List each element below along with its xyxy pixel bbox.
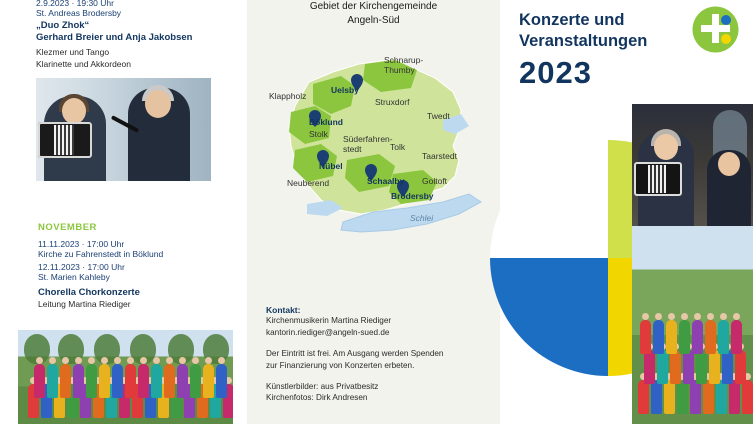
credit-church-photos: Kirchenfotos: Dirk Andresen: [266, 392, 481, 404]
choir-person: [742, 380, 753, 414]
choir-person: [640, 320, 651, 354]
choir-person: [666, 320, 677, 354]
logo-dot-yellow: [721, 34, 731, 44]
head-shape: [707, 313, 714, 320]
head-shape: [75, 357, 82, 364]
choir-person: [677, 380, 688, 414]
choir-person: [177, 364, 188, 398]
event1-instruments: Klarinette und Akkordeon: [36, 59, 248, 71]
choir-person: [703, 380, 714, 414]
map-label-schaalby: Schaalby: [367, 177, 404, 187]
event1-performers: Gerhard Breier und Anja Jakobsen: [36, 32, 248, 44]
head-shape: [720, 313, 727, 320]
choir-person: [670, 350, 681, 384]
choir-person: [729, 380, 740, 414]
choir-person: [722, 350, 733, 384]
choir-person: [683, 350, 694, 384]
choir-person: [696, 350, 707, 384]
choir-person: [735, 350, 746, 384]
event2-date: 11.11.2023 · 17:00 Uhr: [38, 239, 228, 249]
map-label-n-bel: Nübel: [319, 162, 343, 172]
head-shape: [718, 152, 740, 176]
map-label-struxdorf: Struxdorf: [375, 98, 410, 108]
map-label-goltoft: Goltoft: [422, 177, 447, 187]
choir-person: [657, 350, 668, 384]
contact-heading: Kontakt:: [266, 305, 481, 315]
choir-person: [651, 380, 662, 414]
map-label-tolk: Tolk: [390, 143, 405, 153]
choir-person: [638, 380, 649, 414]
map-label-neuberend: Neuberend: [287, 179, 329, 189]
cover-title-line1: Konzerte und: [519, 10, 679, 31]
map-label-s-derfahren-stedt: Süderfahren- stedt: [343, 135, 393, 155]
map-graphic: Schnarup- ThumbyKlappholzUelsbyStruxdorf…: [247, 34, 500, 264]
choir-person: [47, 364, 58, 398]
brochure-page: 2.9.2023 · 19:30 Uhr St. Andreas Broders…: [0, 0, 753, 424]
event1-date: 2.9.2023 · 19:30 Uhr: [36, 0, 248, 8]
head-shape: [166, 357, 173, 364]
choir-person: [644, 350, 655, 384]
event-block-september: 2.9.2023 · 19:30 Uhr St. Andreas Broders…: [18, 0, 266, 70]
head-shape: [681, 313, 688, 320]
head-shape: [205, 357, 212, 364]
month-label-november: NOVEMBER: [38, 222, 228, 233]
head-shape: [62, 98, 86, 124]
event1-venue: St. Andreas Brodersby: [36, 8, 248, 18]
choir-person: [99, 364, 110, 398]
credit-artist-photos: Künstlerbilder: aus Privatbesitz: [266, 381, 481, 393]
accordion-instrument: [38, 122, 92, 158]
map-label-schnarup-thumby: Schnarup- Thumby: [384, 56, 423, 76]
choir-person: [164, 364, 175, 398]
map-label-stolk: Stolk: [309, 130, 328, 140]
cover-title-line2: Veranstaltungen: [519, 31, 679, 52]
choir-person: [216, 364, 227, 398]
choir-person: [86, 364, 97, 398]
head-shape: [114, 357, 121, 364]
contact-person: Kirchenmusikerin Martina Riediger: [266, 315, 481, 327]
event-lead-chorella: Leitung Martina Riediger: [38, 299, 228, 311]
head-shape: [153, 357, 160, 364]
event1-program: Klezmer und Tango: [36, 47, 248, 59]
event3-venue: St. Marien Kahleby: [38, 272, 228, 282]
head-shape: [145, 90, 171, 118]
choir-person: [653, 320, 664, 354]
choir-person: [125, 364, 136, 398]
cover-title: Konzerte und Veranstaltungen: [519, 10, 679, 51]
map-label-brodersby: Brodersby: [391, 192, 434, 202]
map-heading-line1: Gebiet der Kirchengemeinde: [247, 0, 500, 14]
choir-person: [690, 380, 701, 414]
choir-person: [664, 380, 675, 414]
head-shape: [642, 313, 649, 320]
head-shape: [655, 313, 662, 320]
musician-figure: [707, 150, 751, 226]
choir-photo-outdoor: [632, 226, 753, 424]
choir-person: [709, 350, 720, 384]
map-label-schlei: Schlei: [410, 214, 433, 224]
head-shape: [140, 357, 147, 364]
head-shape: [654, 134, 678, 160]
head-shape: [49, 357, 56, 364]
map-label-uelsby: Uelsby: [331, 86, 359, 96]
head-shape: [192, 357, 199, 364]
map-label-b-klund: Böklund: [309, 118, 343, 128]
head-shape: [179, 357, 186, 364]
choir-person: [718, 320, 729, 354]
choir-person: [190, 364, 201, 398]
accordion-instrument: [634, 162, 682, 196]
church-cross-logo: [692, 6, 739, 53]
head-shape: [101, 357, 108, 364]
right-column: Konzerte und Veranstaltungen 2023: [500, 0, 753, 424]
event-block-november: NOVEMBER 11.11.2023 · 17:00 Uhr Kirche z…: [38, 222, 228, 311]
donation-note-line1: Der Eintritt ist frei. Am Ausgang werden…: [266, 348, 481, 360]
clarinet-player-figure: [128, 88, 190, 181]
map-label-klappholz: Klappholz: [269, 92, 306, 102]
logo-svg: [692, 6, 739, 53]
head-shape: [62, 357, 69, 364]
choir-person: [138, 364, 149, 398]
concert-photo-musicians: [632, 104, 753, 226]
choir-person: [716, 380, 727, 414]
head-shape: [36, 357, 43, 364]
cover-year: 2023: [519, 55, 592, 91]
donation-note-line2: zur Finanzierung von Konzerten erbeten.: [266, 360, 481, 372]
choir-person: [34, 364, 45, 398]
duo-zhok-photo: [36, 78, 211, 181]
fan-slice-white: [490, 140, 608, 258]
event3-date: 12.11.2023 · 17:00 Uhr: [38, 262, 228, 272]
choir-person: [73, 364, 84, 398]
event-title-chorella: Chorella Chorkonzerte: [38, 287, 228, 299]
choir-person: [705, 320, 716, 354]
map-label-taarstedt: Taarstedt: [422, 152, 457, 162]
head-shape: [668, 313, 675, 320]
fan-slice-blue: [490, 258, 608, 376]
map-heading-line2: Angeln-Süd: [247, 14, 500, 28]
choir-photo: [18, 330, 233, 424]
choir-person: [203, 364, 214, 398]
head-shape: [733, 313, 740, 320]
choir-person: [60, 364, 71, 398]
contact-block: Kontakt: Kirchenmusikerin Martina Riedig…: [266, 305, 481, 404]
choir-person: [692, 320, 703, 354]
choir-person: [731, 320, 742, 354]
head-shape: [127, 357, 134, 364]
choir-person: [112, 364, 123, 398]
left-column: 2.9.2023 · 19:30 Uhr St. Andreas Broders…: [0, 0, 247, 424]
head-shape: [88, 357, 95, 364]
head-shape: [694, 313, 701, 320]
event1-title: „Duo Zhok“: [36, 20, 248, 32]
map-label-twedt: Twedt: [427, 112, 450, 122]
choir-person: [151, 364, 162, 398]
logo-dot-blue: [721, 15, 731, 25]
choir-person: [679, 320, 690, 354]
head-shape: [218, 357, 225, 364]
map-heading: Gebiet der Kirchengemeinde Angeln-Süd: [247, 0, 500, 27]
map-panel: Gebiet der Kirchengemeinde Angeln-Süd: [247, 0, 500, 424]
contact-email[interactable]: kantorin.riediger@angeln-sued.de: [266, 327, 481, 339]
event2-venue: Kirche zu Fahrenstedt in Böklund: [38, 249, 228, 259]
